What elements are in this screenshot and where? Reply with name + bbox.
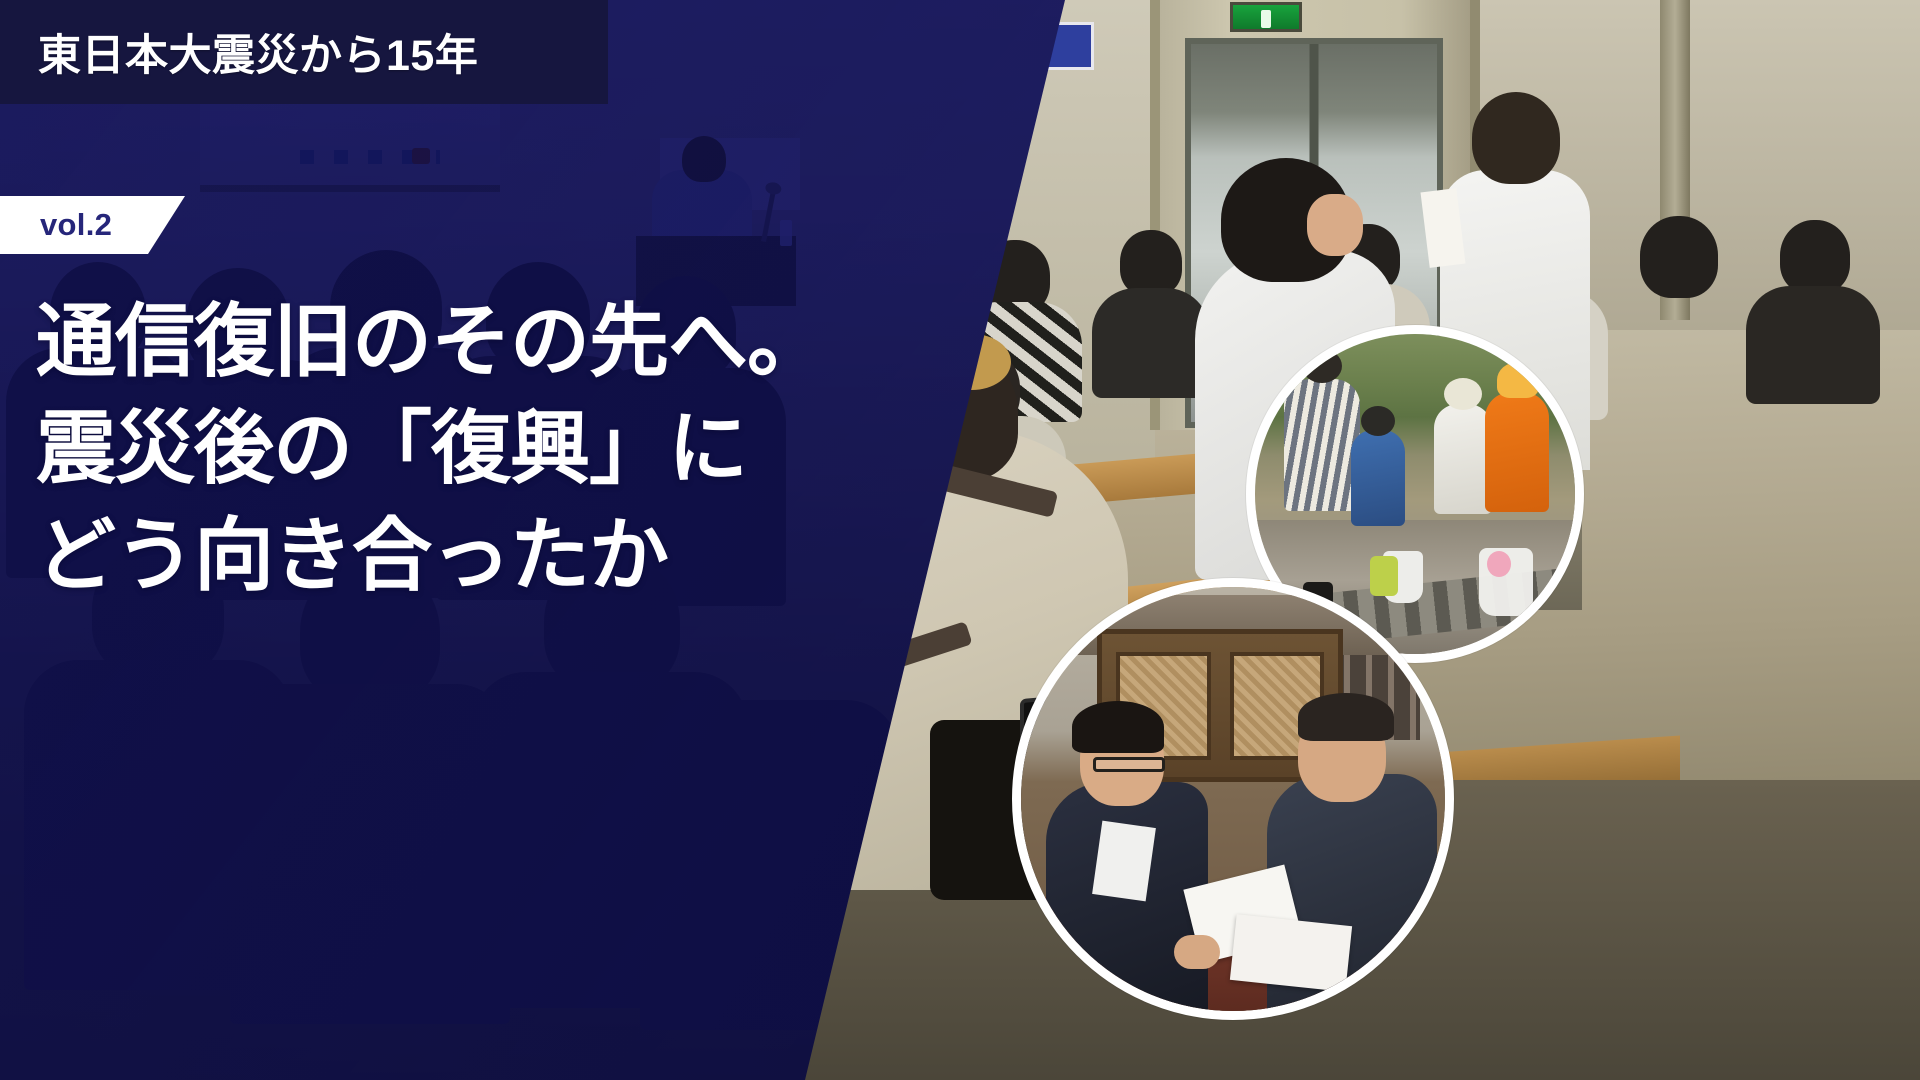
interviewer-hair bbox=[1072, 701, 1164, 753]
eyeglasses-icon bbox=[1093, 757, 1165, 772]
hand-holding-document bbox=[1174, 935, 1220, 969]
series-title: 東日本大震災から15年 bbox=[0, 21, 478, 83]
volunteer-white-shirt bbox=[1434, 404, 1492, 514]
volunteer-striped-shirt bbox=[1284, 379, 1360, 511]
volume-badge-label: vol.2 bbox=[0, 207, 112, 243]
emergency-exit-sign-icon bbox=[1230, 2, 1302, 32]
interviewer-shirt bbox=[1092, 821, 1156, 902]
volunteer-orange-vest bbox=[1485, 392, 1549, 512]
article-title-line-2: 震災後の「復興」に bbox=[36, 395, 956, 502]
interviewee-hair bbox=[1298, 693, 1394, 741]
series-header-band: 東日本大震災から15年 bbox=[0, 0, 608, 104]
article-title-line-3: どう向き合ったか bbox=[36, 502, 956, 609]
article-title: 通信復旧のその先へ。 震災後の「復興」に どう向き合ったか bbox=[36, 288, 956, 610]
inset-photo-interview bbox=[1012, 578, 1454, 1020]
hero-banner: 東日本大震災から15年 vol.2 通信復旧のその先へ。 震災後の「復興」に ど… bbox=[0, 0, 1920, 1080]
volunteer-blue-shirt bbox=[1351, 430, 1405, 526]
article-title-line-1: 通信復旧のその先へ。 bbox=[36, 288, 956, 395]
document-sheet-right bbox=[1230, 914, 1352, 992]
